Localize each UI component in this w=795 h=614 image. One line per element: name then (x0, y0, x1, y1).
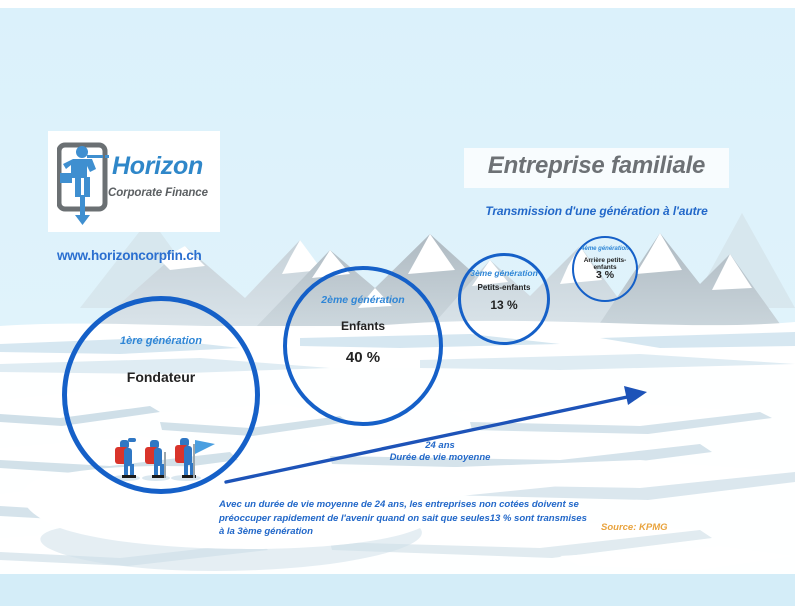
arctic-scene: Horizon Corporate Finance www.horizoncor… (0, 8, 795, 606)
generation-circle-3[interactable]: 3ème génération Petits-enfants 13 % (458, 253, 550, 345)
website-url[interactable]: www.horizoncorpfin.ch (57, 248, 202, 263)
lifespan-caption: Durée de vie moyenne (370, 452, 510, 464)
generation-4-percent: 3 % (574, 269, 636, 281)
generation-circle-2[interactable]: 2ème génération Enfants 40 % (283, 266, 443, 426)
page-subtitle: Transmission d'une génération à l'autre (424, 204, 769, 218)
footnote-text: Avec un durée de vie moyenne de 24 ans, … (219, 498, 589, 539)
infographic-root: Horizon Corporate Finance www.horizoncor… (0, 0, 795, 614)
logo-tagline: Corporate Finance (108, 187, 208, 199)
company-logo: Horizon Corporate Finance (48, 131, 220, 232)
lifespan-value: 24 ans (370, 440, 510, 452)
generation-3-role: Petits-enfants (461, 283, 547, 292)
generation-circle-4[interactable]: 4ème génération Arrière petits-enfants 3… (572, 236, 638, 302)
lifespan-label: 24 ans Durée de vie moyenne (370, 440, 510, 464)
generation-1-label: 1ère génération (67, 335, 255, 347)
generation-circle-1[interactable]: 1ère génération Fondateur (62, 296, 260, 494)
explorer-telescope-icon (57, 137, 113, 225)
generation-3-label: 3ème génération (461, 268, 547, 278)
source-label: Source: KPMG (601, 522, 668, 533)
logo-wordmark: Horizon (112, 152, 203, 181)
page-title: Entreprise familiale (464, 152, 729, 180)
generation-4-label: 4ème génération (574, 246, 636, 252)
generation-1-role: Fondateur (67, 369, 255, 385)
generation-2-role: Enfants (287, 319, 439, 333)
generation-2-label: 2ème génération (287, 294, 439, 306)
generation-2-percent: 40 % (287, 349, 439, 366)
generation-3-percent: 13 % (461, 298, 547, 312)
